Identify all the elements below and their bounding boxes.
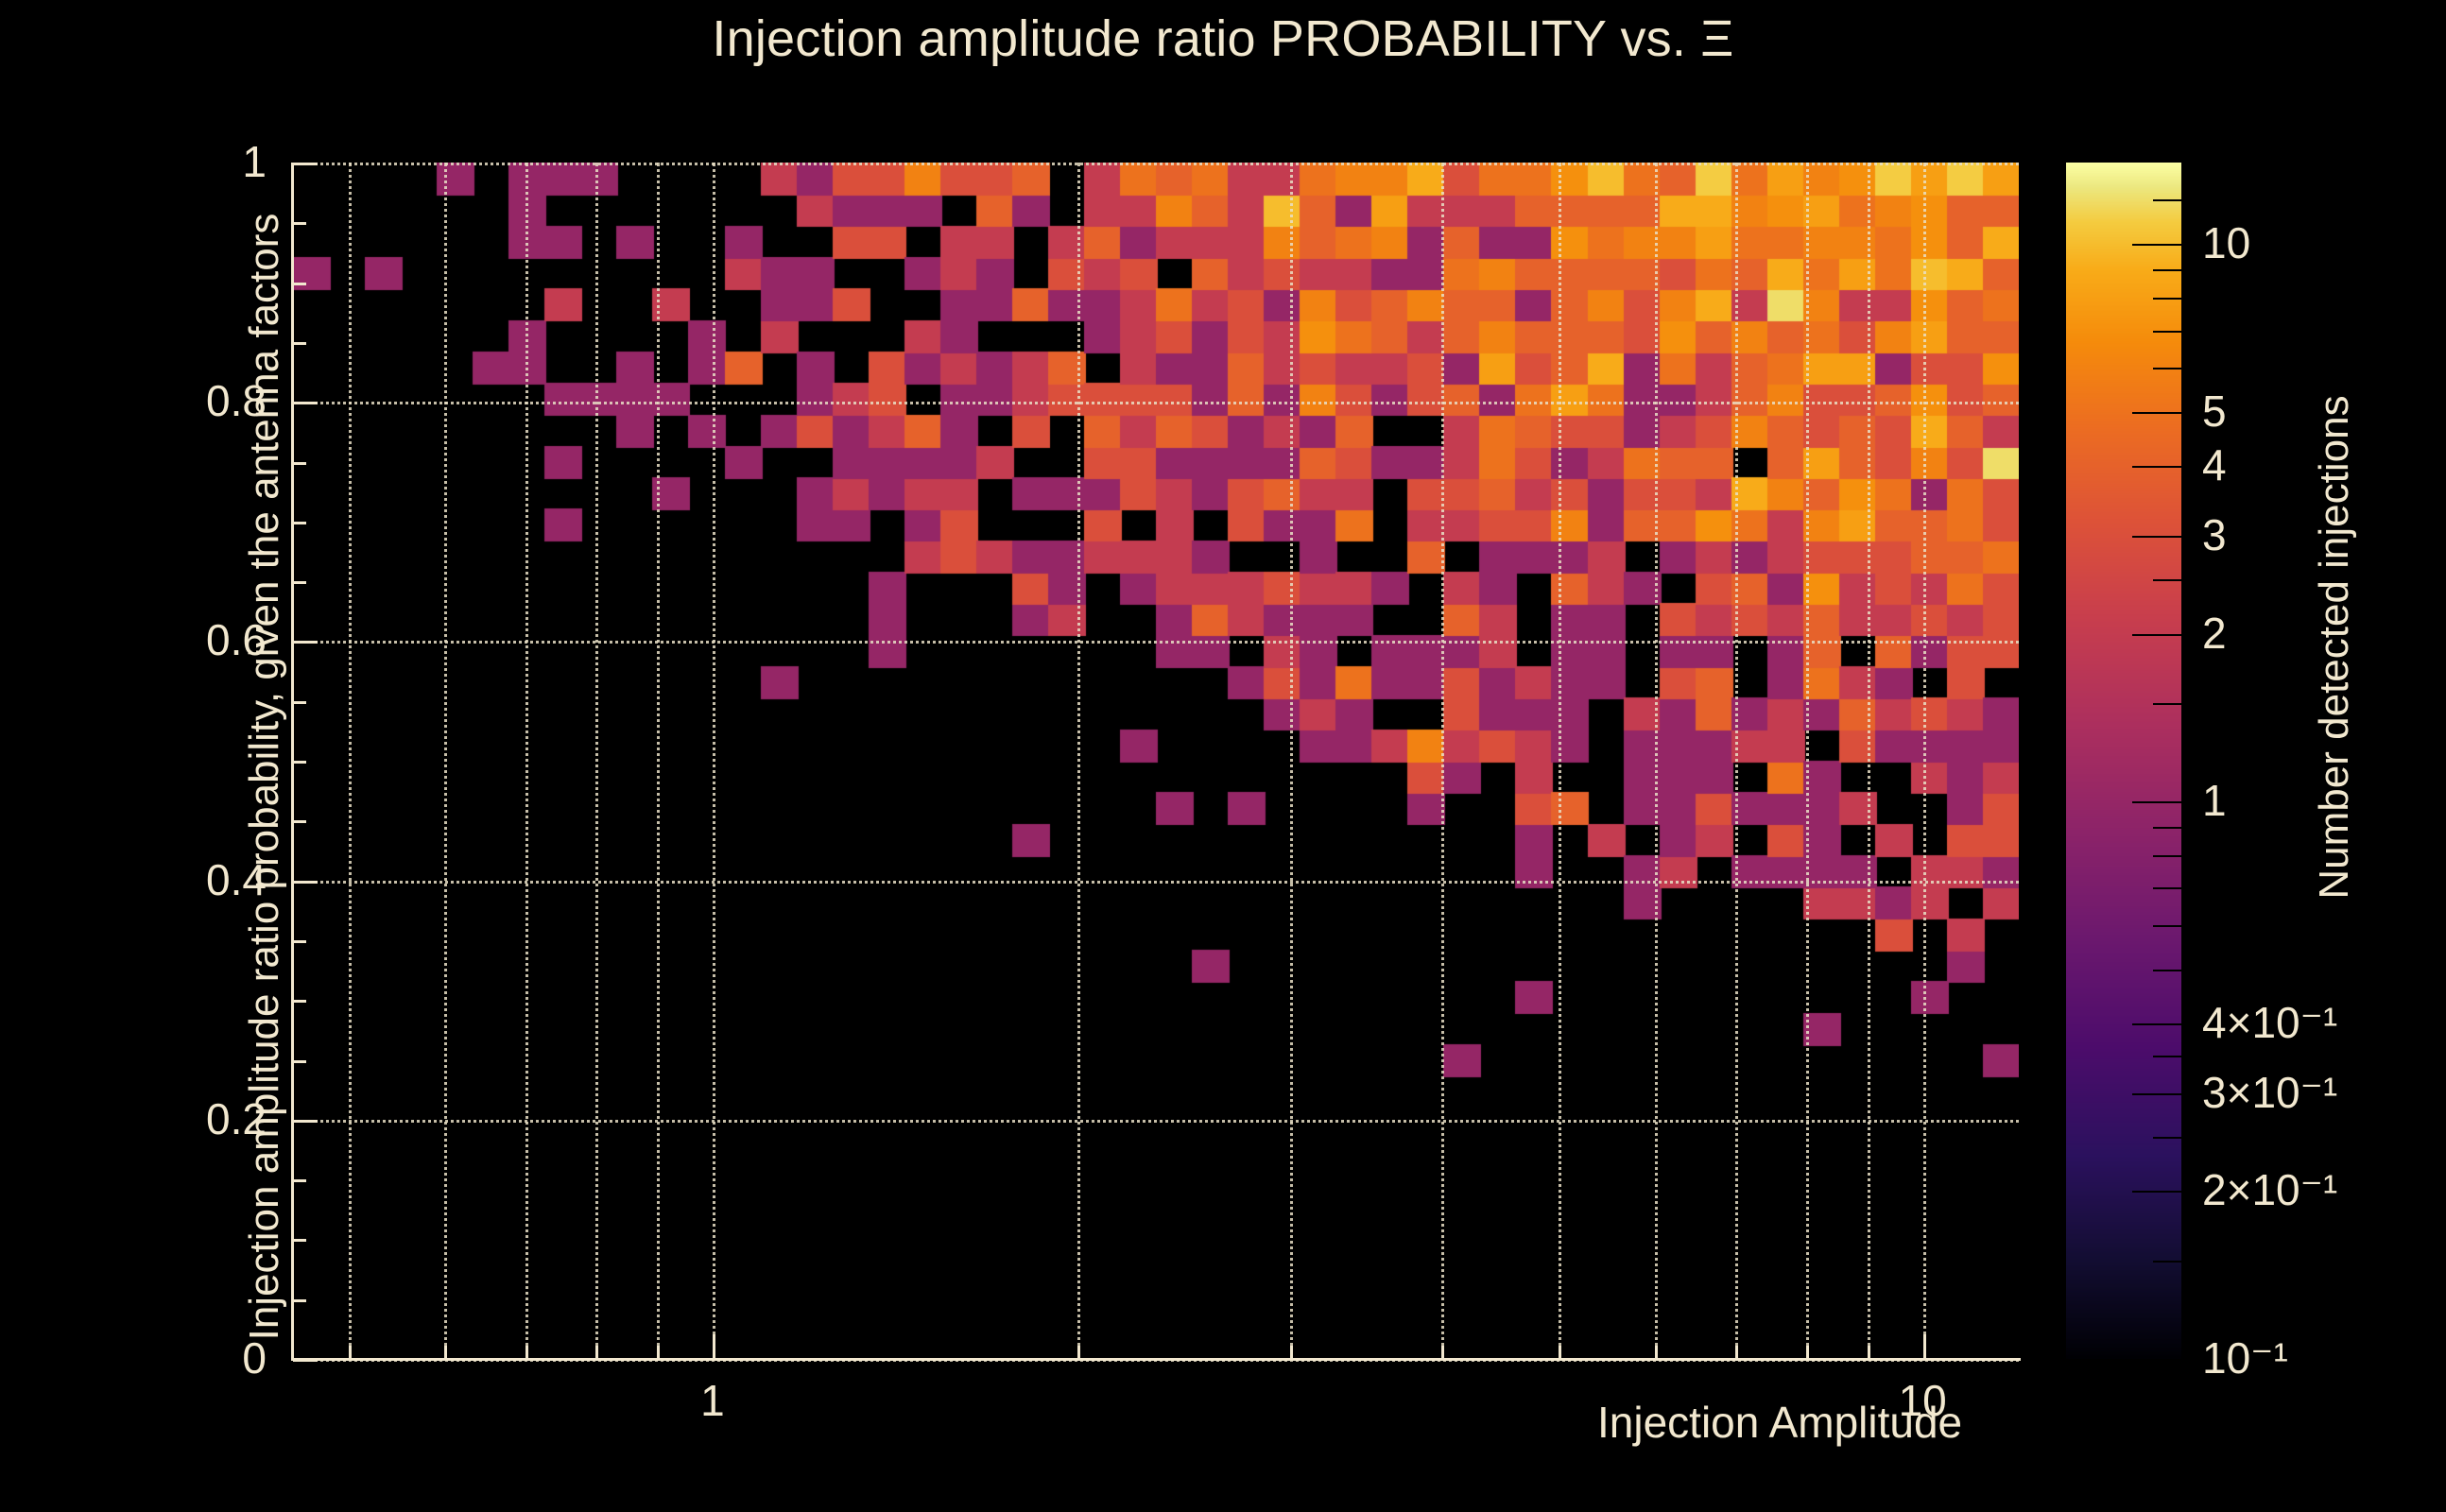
grid-line-vertical — [1441, 163, 1444, 1359]
x-axis-minor-tick — [1077, 1346, 1080, 1359]
colorbar-minor-tick — [2153, 579, 2181, 581]
colorbar-tick — [2132, 412, 2181, 414]
colorbar — [2066, 163, 2181, 1359]
colorbar-title: Number detected injections — [2311, 241, 2358, 1054]
colorbar-minor-tick — [2153, 703, 2181, 705]
y-axis-tick — [293, 641, 318, 644]
grid-line-vertical — [1868, 163, 1870, 1359]
colorbar-minor-tick — [2153, 827, 2181, 829]
colorbar-tick-label: 3×10⁻¹ — [2202, 1067, 2337, 1118]
y-axis-minor-tick — [293, 1239, 306, 1242]
grid-line-vertical — [1923, 163, 1926, 1359]
colorbar-tick — [2132, 244, 2181, 246]
plot-area — [293, 163, 2019, 1359]
grid-line-horizontal — [293, 402, 2019, 404]
colorbar-tick-label: 2 — [2202, 608, 2227, 659]
grid-line-vertical — [1806, 163, 1809, 1359]
y-axis-minor-tick — [293, 522, 306, 524]
page-title: Injection amplitude ratio PROBABILITY vs… — [0, 9, 2446, 68]
colorbar-tick — [2132, 1191, 2181, 1193]
grid-line-horizontal — [293, 1120, 2019, 1123]
x-axis-minor-tick — [657, 1346, 660, 1359]
grid-line-vertical — [657, 163, 660, 1359]
grid-line-vertical — [525, 163, 528, 1359]
y-axis-minor-tick — [293, 761, 306, 764]
colorbar-gradient — [2066, 163, 2181, 1359]
x-axis-tick — [1923, 1334, 1926, 1359]
grid-line-vertical — [1735, 163, 1738, 1359]
grid-line-vertical — [1559, 163, 1561, 1359]
colorbar-tick — [2132, 1359, 2181, 1361]
colorbar-tick — [2132, 634, 2181, 636]
x-axis-tick-label: 1 — [700, 1375, 725, 1426]
x-axis-minor-tick — [1806, 1346, 1809, 1359]
y-axis-minor-tick — [293, 1299, 306, 1302]
chart-root: Injection amplitude ratio PROBABILITY vs… — [0, 0, 2446, 1512]
y-axis-title: Injection amplitude ratio probability, g… — [241, 115, 288, 1438]
y-axis-minor-tick — [293, 462, 306, 465]
y-axis-minor-tick — [293, 940, 306, 943]
grid-line-horizontal — [293, 641, 2019, 644]
x-axis-minor-tick — [1735, 1346, 1738, 1359]
y-axis-minor-tick — [293, 1060, 306, 1063]
grid-line-horizontal — [293, 163, 2019, 165]
x-axis-minor-tick — [595, 1346, 598, 1359]
x-axis-minor-tick — [525, 1346, 528, 1359]
grid-line-vertical — [595, 163, 598, 1359]
grid-line-vertical — [713, 163, 715, 1359]
grid-line-vertical — [1290, 163, 1293, 1359]
y-axis-minor-tick — [293, 283, 306, 285]
colorbar-tick — [2132, 536, 2181, 538]
colorbar-tick — [2132, 466, 2181, 468]
y-axis-tick — [293, 402, 318, 404]
x-axis-minor-tick — [1655, 1346, 1658, 1359]
x-axis-minor-tick — [1868, 1346, 1870, 1359]
colorbar-minor-tick — [2153, 1137, 2181, 1139]
grid-line-vertical — [1655, 163, 1658, 1359]
colorbar-tick-label: 10⁻¹ — [2202, 1332, 2288, 1383]
colorbar-minor-tick — [2153, 1056, 2181, 1057]
colorbar-minor-tick — [2153, 925, 2181, 927]
colorbar-minor-tick — [2153, 887, 2181, 889]
y-axis-minor-tick — [293, 820, 306, 823]
colorbar-minor-tick — [2153, 331, 2181, 333]
colorbar-tick — [2132, 1093, 2181, 1095]
x-axis-minor-tick — [1441, 1346, 1444, 1359]
y-axis-minor-tick — [293, 701, 306, 704]
y-axis-tick — [293, 881, 318, 884]
x-axis-minor-tick — [1559, 1346, 1561, 1359]
y-axis-minor-tick — [293, 222, 306, 225]
x-axis-tick — [713, 1334, 715, 1359]
heatmap-canvas — [293, 163, 2019, 1359]
colorbar-minor-tick — [2153, 298, 2181, 300]
grid-line-vertical — [1077, 163, 1080, 1359]
colorbar-tick-label: 4 — [2202, 439, 2227, 490]
y-axis-minor-tick — [293, 581, 306, 584]
y-axis-tick — [293, 163, 318, 165]
grid-line-vertical — [349, 163, 352, 1359]
colorbar-tick — [2132, 801, 2181, 803]
colorbar-minor-tick — [2153, 1261, 2181, 1263]
x-axis-title: Injection Amplitude — [1597, 1397, 1962, 1448]
grid-line-vertical — [444, 163, 447, 1359]
colorbar-minor-tick — [2153, 269, 2181, 271]
y-axis-minor-tick — [293, 342, 306, 345]
colorbar-tick-label: 3 — [2202, 509, 2227, 560]
y-axis-minor-tick — [293, 1000, 306, 1003]
colorbar-minor-tick — [2153, 970, 2181, 971]
x-axis-minor-tick — [1290, 1346, 1293, 1359]
x-axis-minor-tick — [349, 1346, 352, 1359]
colorbar-tick-label: 5 — [2202, 386, 2227, 437]
colorbar-minor-tick — [2153, 199, 2181, 201]
colorbar-minor-tick — [2153, 368, 2181, 369]
x-axis-line — [293, 1358, 2021, 1361]
colorbar-tick-label: 2×10⁻¹ — [2202, 1164, 2337, 1215]
colorbar-tick-label: 10 — [2202, 217, 2250, 268]
colorbar-tick — [2132, 1023, 2181, 1025]
colorbar-minor-tick — [2153, 855, 2181, 857]
colorbar-tick-label: 1 — [2202, 775, 2227, 826]
y-axis-tick — [293, 1120, 318, 1123]
x-axis-minor-tick — [444, 1346, 447, 1359]
y-axis-minor-tick — [293, 1179, 306, 1182]
y-axis-tick — [293, 1359, 318, 1362]
grid-line-horizontal — [293, 881, 2019, 884]
